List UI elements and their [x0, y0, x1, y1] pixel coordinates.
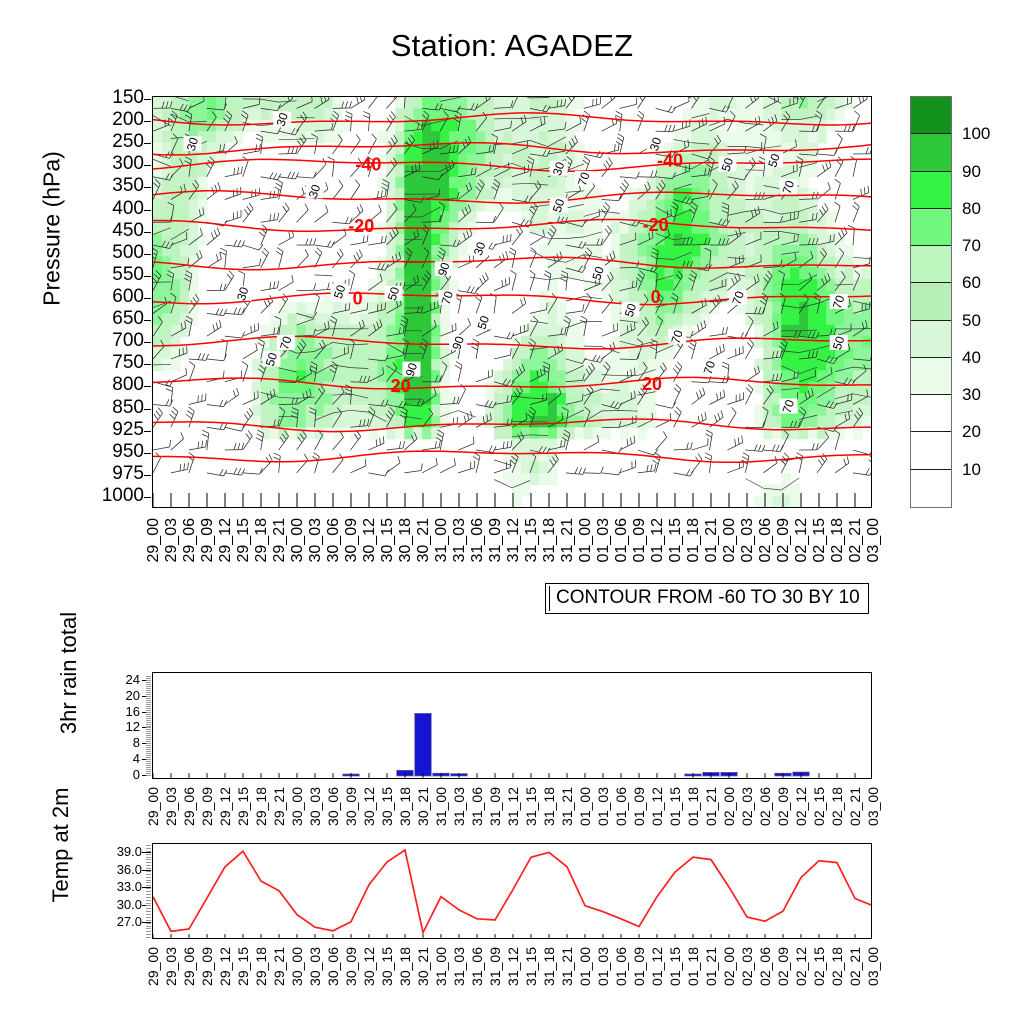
rain-y-minor-tick — [146, 700, 151, 701]
main-y-tick: 350 — [84, 176, 144, 195]
temp-y-minor-tick — [146, 874, 151, 875]
x-tick-label: 31_06 — [470, 947, 484, 986]
colorbar-label: 20 — [962, 423, 981, 440]
x-tick-label: 30_03 — [308, 787, 322, 826]
colorbar-label: 10 — [962, 461, 981, 478]
x-tick-label: 30_09 — [344, 947, 358, 986]
main-y-tick-mark — [144, 475, 151, 476]
x-tick-label: 01_18 — [686, 787, 700, 826]
x-tick-label: 02_00 — [722, 947, 736, 986]
temp-y-minor-tick — [146, 914, 151, 915]
x-tick-label: 31_18 — [542, 518, 558, 563]
x-tick-label: 31_18 — [542, 787, 556, 826]
x-tick-label: 02_18 — [830, 947, 844, 986]
x-tick-label: 29_09 — [200, 787, 214, 826]
x-tick-label: 31_15 — [524, 787, 538, 826]
x-tick-label: 03_00 — [866, 518, 882, 563]
main-y-tick-mark — [144, 187, 151, 188]
x-tick-label: 02_00 — [722, 787, 736, 826]
temp-y-minor-tick — [146, 851, 151, 852]
colorbar-label: 70 — [962, 237, 981, 254]
temp-y-minor-tick — [146, 917, 151, 918]
rain-y-minor-tick — [146, 763, 151, 764]
temp-y-minor-tick — [146, 848, 151, 849]
colorbar-swatch — [911, 321, 951, 358]
x-tick-label: 31_00 — [434, 787, 448, 826]
colorbar-label: 80 — [962, 200, 981, 217]
rain-y-minor-tick — [146, 706, 151, 707]
svg-text:0: 0 — [353, 289, 363, 309]
colorbar-swatch — [911, 97, 951, 134]
temp-y-minor-tick — [146, 934, 151, 935]
main-y-tick-mark — [144, 99, 151, 100]
rain-y-minor-tick — [146, 741, 151, 742]
x-tick-label: 29_06 — [182, 787, 196, 826]
x-tick-label: 01_12 — [650, 947, 664, 986]
temp-y-axis-label: Temp at 2m — [48, 770, 74, 920]
rain-y-minor-tick — [146, 724, 151, 725]
x-tick-label: 01_15 — [668, 518, 684, 563]
svg-text:-20: -20 — [348, 216, 374, 236]
x-tick-label: 02_18 — [830, 518, 846, 563]
rain-y-minor-tick — [146, 708, 151, 709]
page-title: Station: AGADEZ — [0, 28, 1024, 64]
x-tick-label: 02_15 — [812, 518, 828, 563]
x-tick-label: 01_00 — [578, 947, 592, 986]
x-tick-label: 30_12 — [362, 947, 376, 986]
rain-y-minor-tick — [146, 698, 151, 699]
svg-text:20: 20 — [391, 376, 411, 396]
x-tick-label: 01_21 — [704, 787, 718, 826]
colorbar-swatch — [911, 395, 951, 432]
x-tick-label: 29_09 — [200, 947, 214, 986]
svg-text:20: 20 — [642, 374, 662, 394]
main-y-tick-mark — [144, 386, 151, 387]
colorbar-swatch — [911, 134, 951, 171]
x-tick-label: 30_00 — [290, 947, 304, 986]
temp-line-canvas — [153, 844, 871, 938]
x-tick-label: 30_21 — [416, 787, 430, 826]
colorbar-label: 40 — [962, 349, 981, 366]
temp-y-minor-tick — [146, 888, 151, 889]
rain-y-minor-tick — [146, 747, 151, 748]
colorbar-label: 50 — [962, 312, 981, 329]
rain-y-minor-tick — [146, 682, 151, 683]
rain-y-minor-tick — [146, 688, 151, 689]
x-tick-label: 31_09 — [488, 947, 502, 986]
x-tick-label: 01_03 — [596, 947, 610, 986]
rain-y-axis-label: 3hr rain total — [56, 598, 82, 748]
x-tick-label: 02_03 — [740, 518, 756, 563]
temp-y-minor-tick — [146, 926, 151, 927]
humidity-time-height-plot[interactable]: -40-40-20-200020203030303030303050505050… — [152, 96, 872, 508]
x-tick-label: 29_15 — [236, 518, 252, 563]
rain-y-minor-tick — [146, 694, 151, 695]
temp-y-minor-tick — [146, 923, 151, 924]
x-tick-label: 31_03 — [452, 787, 466, 826]
x-tick-label: 31_09 — [488, 518, 504, 563]
colorbar-swatch — [911, 246, 951, 283]
temp-y-minor-tick — [146, 937, 151, 938]
x-tick-label: 29_21 — [272, 947, 286, 986]
temp-y-minor-tick — [146, 859, 151, 860]
rain-bars-canvas — [153, 673, 871, 778]
x-tick-label: 30_15 — [380, 518, 396, 563]
rain-total-bar-chart[interactable] — [152, 672, 872, 779]
rain-y-minor-tick — [146, 761, 151, 762]
x-tick-label: 29_12 — [218, 518, 234, 563]
rain-y-minor-tick — [146, 739, 151, 740]
colorbar-swatch — [911, 172, 951, 209]
main-y-tick-mark — [144, 165, 151, 166]
main-y-tick: 850 — [84, 398, 144, 417]
main-y-tick-mark — [144, 431, 151, 432]
temp-y-minor-tick — [146, 908, 151, 909]
x-tick-label: 02_09 — [776, 947, 790, 986]
temp-y-minor-tick — [146, 928, 151, 929]
rain-y-tick: 12 — [106, 720, 140, 733]
x-tick-label: 29_06 — [182, 947, 196, 986]
x-tick-label: 02_06 — [758, 518, 774, 563]
rain-y-minor-tick — [146, 686, 151, 687]
x-tick-label: 31_15 — [524, 518, 540, 563]
x-tick-label: 31_09 — [488, 787, 502, 826]
temp-y-minor-tick — [146, 845, 151, 846]
x-tick-label: 31_15 — [524, 947, 538, 986]
temp-y-minor-tick — [146, 911, 151, 912]
main-y-tick: 400 — [84, 199, 144, 218]
x-tick-label: 30_00 — [290, 787, 304, 826]
rain-y-minor-tick — [146, 771, 151, 772]
temp-y-minor-tick — [146, 862, 151, 863]
rain-y-minor-tick — [146, 757, 151, 758]
svg-text:-40: -40 — [657, 151, 683, 171]
rain-y-minor-tick — [146, 735, 151, 736]
x-tick-label: 29_03 — [164, 787, 178, 826]
colorbar-label: 100 — [962, 125, 990, 142]
main-y-tick: 150 — [84, 88, 144, 107]
x-tick-label: 01_06 — [614, 947, 628, 986]
main-y-tick: 800 — [84, 375, 144, 394]
x-tick-label: 31_21 — [560, 947, 574, 986]
x-tick-label: 02_03 — [740, 787, 754, 826]
x-tick-label: 30_06 — [326, 518, 342, 563]
x-tick-label: 02_09 — [776, 518, 792, 563]
temp-y-minor-tick — [146, 868, 151, 869]
rain-y-minor-tick — [146, 755, 151, 756]
rain-y-minor-tick — [146, 767, 151, 768]
x-tick-label: 30_12 — [362, 787, 376, 826]
x-tick-label: 29_15 — [236, 787, 250, 826]
temp-y-minor-tick — [146, 900, 151, 901]
x-tick-label: 01_15 — [668, 787, 682, 826]
x-tick-label: 01_03 — [596, 787, 610, 826]
rain-y-minor-tick — [146, 773, 151, 774]
x-tick-label: 30_18 — [398, 787, 412, 826]
x-tick-label: 29_18 — [254, 518, 270, 563]
x-tick-label: 29_00 — [146, 787, 160, 826]
rain-y-minor-tick — [146, 769, 151, 770]
rain-y-minor-tick — [146, 704, 151, 705]
rain-y-minor-tick — [146, 751, 151, 752]
temp-y-minor-tick — [146, 894, 151, 895]
main-y-tick-mark — [144, 453, 151, 454]
x-tick-label: 30_21 — [416, 947, 430, 986]
rain-y-tick: 24 — [106, 673, 140, 686]
x-tick-label: 31_06 — [470, 787, 484, 826]
temp-y-minor-tick — [146, 877, 151, 878]
humidity-colorbar — [910, 96, 952, 508]
rain-y-minor-tick — [146, 775, 151, 776]
x-tick-label: 31_03 — [452, 518, 468, 563]
x-tick-label: 31_12 — [506, 947, 520, 986]
x-tick-label: 02_12 — [794, 787, 808, 826]
x-tick-label: 29_21 — [272, 518, 288, 563]
main-y-tick: 500 — [84, 243, 144, 262]
colorbar-swatch — [911, 209, 951, 246]
x-tick-label: 01_06 — [614, 787, 628, 826]
x-tick-label: 29_09 — [200, 518, 216, 563]
x-tick-label: 30_03 — [308, 518, 324, 563]
rain-y-minor-tick — [146, 680, 151, 681]
rain-y-minor-tick — [146, 726, 151, 727]
rain-y-minor-tick — [146, 696, 151, 697]
main-y-tick-mark — [144, 497, 151, 498]
main-y-tick: 925 — [84, 420, 144, 439]
temp-y-minor-tick — [146, 882, 151, 883]
x-tick-label: 31_12 — [506, 787, 520, 826]
x-tick-label: 29_18 — [254, 787, 268, 826]
rain-y-minor-tick — [146, 684, 151, 685]
temp-y-tick: 36.0 — [94, 863, 142, 876]
main-y-tick-mark — [144, 254, 151, 255]
x-tick-label: 02_15 — [812, 947, 826, 986]
rain-y-minor-tick — [146, 676, 151, 677]
main-y-tick: 700 — [84, 331, 144, 350]
x-tick-label: 30_15 — [380, 787, 394, 826]
main-y-tick-mark — [144, 232, 151, 233]
rain-y-minor-tick — [146, 745, 151, 746]
rain-y-minor-tick — [146, 722, 151, 723]
rain-y-tick: 20 — [106, 689, 140, 702]
x-tick-label: 01_09 — [632, 947, 646, 986]
rain-y-minor-tick — [146, 692, 151, 693]
x-tick-label: 30_12 — [362, 518, 378, 563]
x-tick-label: 31_21 — [560, 787, 574, 826]
rain-y-tick: 0 — [106, 768, 140, 781]
x-tick-label: 29_12 — [218, 787, 232, 826]
temp-y-minor-tick — [146, 854, 151, 855]
colorbar-swatch — [911, 358, 951, 395]
main-y-tick: 200 — [84, 110, 144, 129]
temp-y-minor-tick — [146, 857, 151, 858]
rain-y-tick: 8 — [106, 736, 140, 749]
x-tick-label: 02_06 — [758, 787, 772, 826]
x-tick-label: 01_15 — [668, 947, 682, 986]
x-tick-label: 02_21 — [848, 518, 864, 563]
rain-y-minor-tick — [146, 729, 151, 730]
main-y-tick-mark — [144, 298, 151, 299]
svg-text:0: 0 — [651, 287, 661, 307]
rain-y-minor-tick — [146, 731, 151, 732]
x-tick-label: 30_06 — [326, 947, 340, 986]
rain-y-minor-tick — [146, 718, 151, 719]
main-y-tick-mark — [144, 143, 151, 144]
x-tick-label: 29_21 — [272, 787, 286, 826]
x-tick-label: 31_03 — [452, 947, 466, 986]
colorbar-label: 30 — [962, 386, 981, 403]
x-tick-label: 01_09 — [632, 518, 648, 563]
x-tick-label: 31_18 — [542, 947, 556, 986]
x-tick-label: 01_18 — [686, 947, 700, 986]
main-y-tick: 650 — [84, 309, 144, 328]
x-tick-label: 01_00 — [578, 787, 592, 826]
x-tick-label: 02_15 — [812, 787, 826, 826]
colorbar-swatch — [911, 432, 951, 469]
main-y-tick: 550 — [84, 265, 144, 284]
rain-y-minor-tick — [146, 737, 151, 738]
rain-y-minor-tick — [146, 702, 151, 703]
rain-y-minor-tick — [146, 678, 151, 679]
x-tick-label: 31_06 — [470, 518, 486, 563]
main-y-tick: 250 — [84, 132, 144, 151]
rain-y-minor-tick — [146, 714, 151, 715]
main-y-tick: 450 — [84, 221, 144, 240]
colorbar-swatch — [911, 283, 951, 320]
rain-y-minor-tick — [146, 733, 151, 734]
humidity-contour-canvas: -40-40-20-200020203030303030303050505050… — [153, 97, 871, 507]
x-tick-label: 29_03 — [164, 947, 178, 986]
x-tick-label: 29_12 — [218, 947, 232, 986]
temp-y-minor-tick — [146, 920, 151, 921]
rain-y-tick: 4 — [106, 752, 140, 765]
x-tick-label: 03_00 — [866, 787, 880, 826]
svg-text:-20: -20 — [643, 215, 669, 235]
rain-y-minor-tick — [146, 743, 151, 744]
x-tick-label: 02_06 — [758, 947, 772, 986]
x-tick-label: 29_00 — [146, 518, 162, 563]
main-y-tick-mark — [144, 276, 151, 277]
rain-y-minor-tick — [146, 710, 151, 711]
x-tick-label: 30_15 — [380, 947, 394, 986]
colorbar-swatch — [911, 470, 951, 507]
x-tick-label: 01_12 — [650, 787, 664, 826]
x-tick-label: 02_09 — [776, 787, 790, 826]
x-tick-label: 01_21 — [704, 947, 718, 986]
x-tick-label: 01_18 — [686, 518, 702, 563]
temp-y-minor-tick — [146, 891, 151, 892]
x-tick-label: 02_21 — [848, 787, 862, 826]
x-tick-label: 31_00 — [434, 947, 448, 986]
temp-y-minor-tick — [146, 880, 151, 881]
temp-y-tick: 33.0 — [94, 880, 142, 893]
contour-range-note: CONTOUR FROM -60 TO 30 BY 10 — [545, 583, 869, 614]
x-tick-label: 02_12 — [794, 947, 808, 986]
x-tick-label: 29_18 — [254, 947, 268, 986]
rain-y-minor-tick — [146, 720, 151, 721]
svg-text:-40: -40 — [355, 155, 381, 175]
rain-y-minor-tick — [146, 749, 151, 750]
colorbar-label: 90 — [962, 163, 981, 180]
temp-y-minor-tick — [146, 897, 151, 898]
x-tick-label: 01_03 — [596, 518, 612, 563]
main-y-tick: 750 — [84, 353, 144, 372]
x-tick-label: 02_00 — [722, 518, 738, 563]
main-y-tick-mark — [144, 364, 151, 365]
rain-y-tick: 16 — [106, 705, 140, 718]
main-y-tick-mark — [144, 121, 151, 122]
x-tick-label: 02_03 — [740, 947, 754, 986]
temp-y-minor-tick — [146, 905, 151, 906]
main-y-tick-mark — [144, 342, 151, 343]
x-tick-label: 31_21 — [560, 518, 576, 563]
temp-y-tick: 39.0 — [94, 845, 142, 858]
x-tick-label: 31_12 — [506, 518, 522, 563]
x-tick-label: 31_00 — [434, 518, 450, 563]
rain-y-minor-tick — [146, 712, 151, 713]
main-y-tick: 1000 — [84, 486, 144, 505]
x-tick-label: 01_21 — [704, 518, 720, 563]
temp-y-minor-tick — [146, 865, 151, 866]
temp-y-minor-tick — [146, 885, 151, 886]
x-tick-label: 29_15 — [236, 947, 250, 986]
rain-y-minor-tick — [146, 765, 151, 766]
x-tick-label: 02_21 — [848, 947, 862, 986]
x-tick-label: 29_00 — [146, 947, 160, 986]
rain-y-minor-tick — [146, 690, 151, 691]
x-tick-label: 30_21 — [416, 518, 432, 563]
x-tick-label: 30_09 — [344, 518, 360, 563]
x-tick-label: 29_06 — [182, 518, 198, 563]
x-tick-label: 01_09 — [632, 787, 646, 826]
main-y-tick: 950 — [84, 442, 144, 461]
x-tick-label: 30_09 — [344, 787, 358, 826]
x-tick-label: 02_18 — [830, 787, 844, 826]
temp-y-minor-tick — [146, 931, 151, 932]
temp-y-tick: 27.0 — [94, 915, 142, 928]
x-tick-label: 30_06 — [326, 787, 340, 826]
x-tick-label: 01_06 — [614, 518, 630, 563]
x-tick-label: 30_18 — [398, 947, 412, 986]
x-tick-label: 02_12 — [794, 518, 810, 563]
x-tick-label: 01_00 — [578, 518, 594, 563]
rain-y-minor-tick — [146, 716, 151, 717]
main-y-tick: 600 — [84, 287, 144, 306]
main-y-tick-mark — [144, 210, 151, 211]
colorbar-label: 60 — [962, 274, 981, 291]
main-y-tick: 300 — [84, 154, 144, 173]
rain-y-minor-tick — [146, 753, 151, 754]
rain-y-minor-tick — [146, 759, 151, 760]
x-tick-label: 30_00 — [290, 518, 306, 563]
main-y-tick: 975 — [84, 464, 144, 483]
main-y-tick-mark — [144, 409, 151, 410]
temperature-line-chart[interactable] — [152, 843, 872, 939]
x-tick-label: 30_03 — [308, 947, 322, 986]
temp-y-tick: 30.0 — [94, 898, 142, 911]
rain-y-minor-tick — [146, 727, 151, 728]
temp-y-minor-tick — [146, 871, 151, 872]
temp-y-minor-tick — [146, 903, 151, 904]
x-tick-label: 01_12 — [650, 518, 666, 563]
x-tick-label: 30_18 — [398, 518, 414, 563]
main-y-tick-mark — [144, 320, 151, 321]
x-tick-label: 29_03 — [164, 518, 180, 563]
main-y-axis-label: Pressure (hPa) — [39, 49, 66, 409]
x-tick-label: 03_00 — [866, 947, 880, 986]
